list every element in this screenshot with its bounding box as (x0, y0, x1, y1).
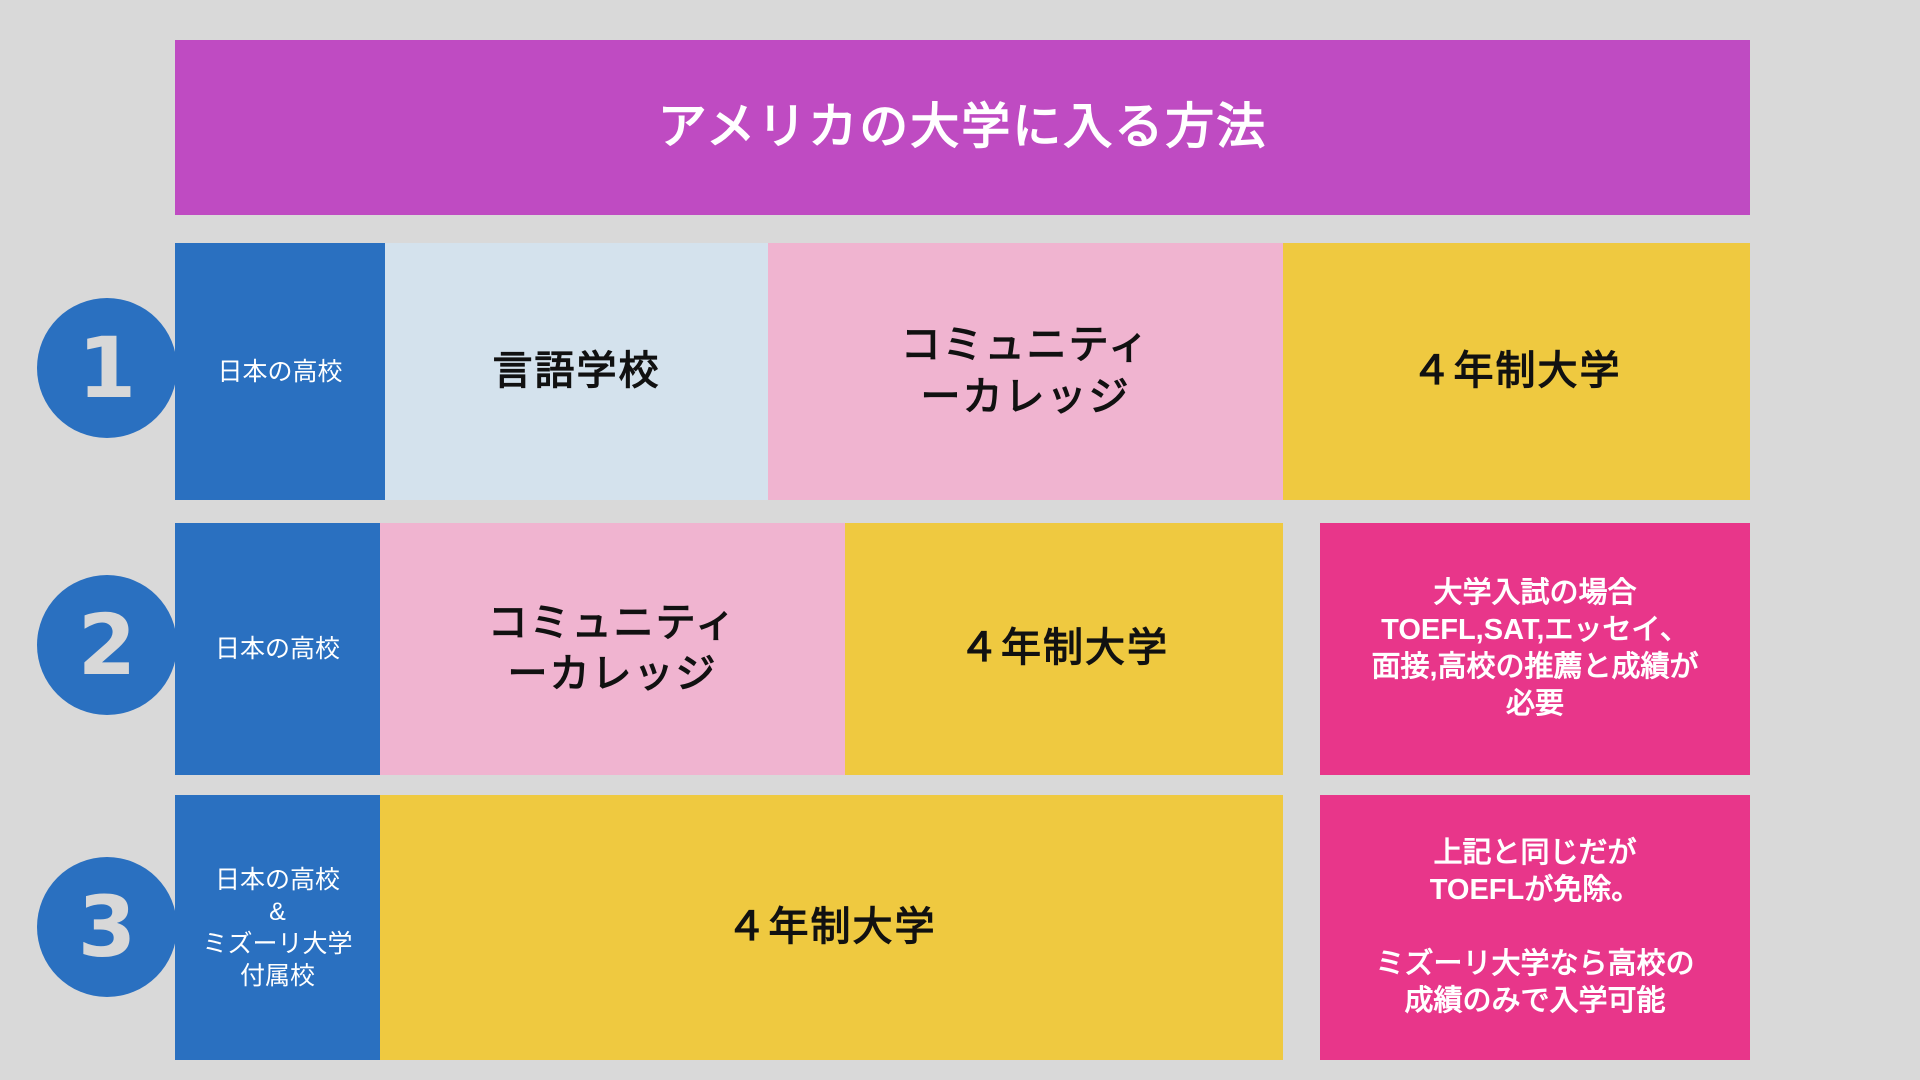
title-bar: アメリカの大学に入る方法 (175, 40, 1750, 215)
step-number-badge-2: 2 (37, 575, 177, 715)
step-box-community-college[interactable]: コミュニティ ーカレッジ (380, 523, 845, 775)
step-box-label: ４年制大学 (727, 902, 937, 953)
step-box-japanese-high-school-and-missouri-affiliate[interactable]: 日本の高校 & ミズーリ大学 付属校 (175, 795, 380, 1060)
page-title: アメリカの大学に入る方法 (658, 101, 1268, 155)
step-box-four-year-university[interactable]: ４年制大学 (845, 523, 1283, 775)
requirements-note-row-2: 大学入試の場合 TOEFL,SAT,エッセイ、 面接,高校の推薦と成績が 必要 (1320, 523, 1750, 775)
step-box-four-year-university[interactable]: ４年制大学 (1283, 243, 1750, 500)
note-text: 上記と同じだが TOEFLが免除。 ミズーリ大学なら高校の 成績のみで入学可能 (1375, 835, 1694, 1021)
step-box-four-year-university[interactable]: ４年制大学 (380, 795, 1283, 1060)
note-text: 大学入試の場合 TOEFL,SAT,エッセイ、 面接,高校の推薦と成績が 必要 (1371, 575, 1698, 723)
step-box-japanese-high-school[interactable]: 日本の高校 (175, 243, 385, 500)
step-box-label: ４年制大学 (1412, 346, 1622, 397)
pathway-row-2: 2 日本の高校 コミュニティ ーカレッジ ４年制大学 大学入試の場合 TOEFL… (0, 523, 1920, 775)
step-box-label: コミュニティ ーカレッジ (488, 598, 738, 700)
step-box-label: 日本の高校 (217, 356, 342, 388)
step-number-badge-3: 3 (37, 857, 177, 997)
step-box-label: 日本の高校 (215, 633, 340, 665)
pathway-row-1: 1 日本の高校 言語学校 コミュニティ ーカレッジ ４年制大学 (0, 243, 1920, 500)
step-box-language-school[interactable]: 言語学校 (385, 243, 768, 500)
step-box-label: ４年制大学 (959, 623, 1169, 674)
pathway-row-3: 3 日本の高校 & ミズーリ大学 付属校 ４年制大学 上記と同じだが TOEFL… (0, 795, 1920, 1060)
step-box-japanese-high-school[interactable]: 日本の高校 (175, 523, 380, 775)
infographic-canvas: アメリカの大学に入る方法 1 日本の高校 言語学校 コミュニティ ーカレッジ ４… (0, 0, 1920, 1080)
requirements-note-row-3: 上記と同じだが TOEFLが免除。 ミズーリ大学なら高校の 成績のみで入学可能 (1320, 795, 1750, 1060)
step-box-label: 日本の高校 & ミズーリ大学 付属校 (202, 864, 352, 992)
step-box-community-college[interactable]: コミュニティ ーカレッジ (768, 243, 1283, 500)
step-box-label: コミュニティ ーカレッジ (901, 320, 1151, 422)
step-box-label: 言語学校 (493, 346, 661, 397)
step-number-badge-1: 1 (37, 298, 177, 438)
